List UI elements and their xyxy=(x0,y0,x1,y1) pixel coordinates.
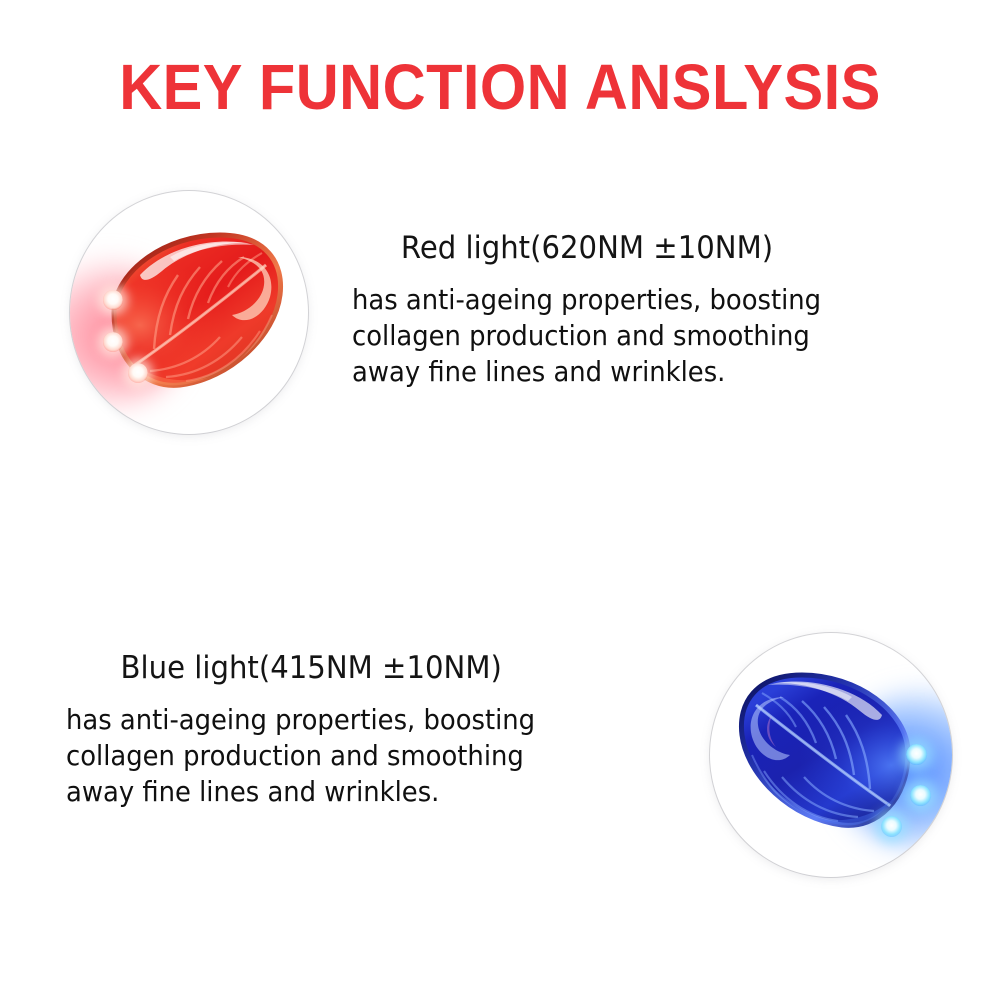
infographic-page: KEY FUNCTION ANSLYSIS xyxy=(0,0,1000,1000)
led-dot xyxy=(906,744,927,765)
red-light-product-image xyxy=(70,191,308,434)
red-leaf-graphic xyxy=(70,191,308,434)
blue-light-body: has anti-ageing properties, boosting col… xyxy=(66,702,649,810)
body-line: has anti-ageing properties, boosting xyxy=(352,282,916,318)
led-dot xyxy=(910,785,931,806)
body-line: collagen production and smoothing xyxy=(66,738,649,774)
red-light-body: has anti-ageing properties, boosting col… xyxy=(352,282,916,390)
led-dot xyxy=(128,363,148,383)
blue-light-product-image xyxy=(710,633,952,877)
led-dot xyxy=(881,816,902,837)
blue-leaf-device xyxy=(710,633,952,877)
led-dot xyxy=(103,290,123,310)
led-dot xyxy=(103,332,123,352)
body-line: away fine lines and wrinkles. xyxy=(66,774,649,810)
body-line: collagen production and smoothing xyxy=(352,318,916,354)
page-title: KEY FUNCTION ANSLYSIS xyxy=(35,52,965,122)
blue-light-text-block: Blue light(415NM ±10NM) has anti-ageing … xyxy=(66,648,686,810)
blue-light-heading: Blue light(415NM ±10NM) xyxy=(66,648,649,688)
red-light-heading: Red light(620NM ±10NM) xyxy=(352,228,916,268)
body-line: away fine lines and wrinkles. xyxy=(352,354,916,390)
body-line: has anti-ageing properties, boosting xyxy=(66,702,649,738)
red-leaf-device xyxy=(70,191,308,434)
red-light-text-block: Red light(620NM ±10NM) has anti-ageing p… xyxy=(352,228,952,390)
